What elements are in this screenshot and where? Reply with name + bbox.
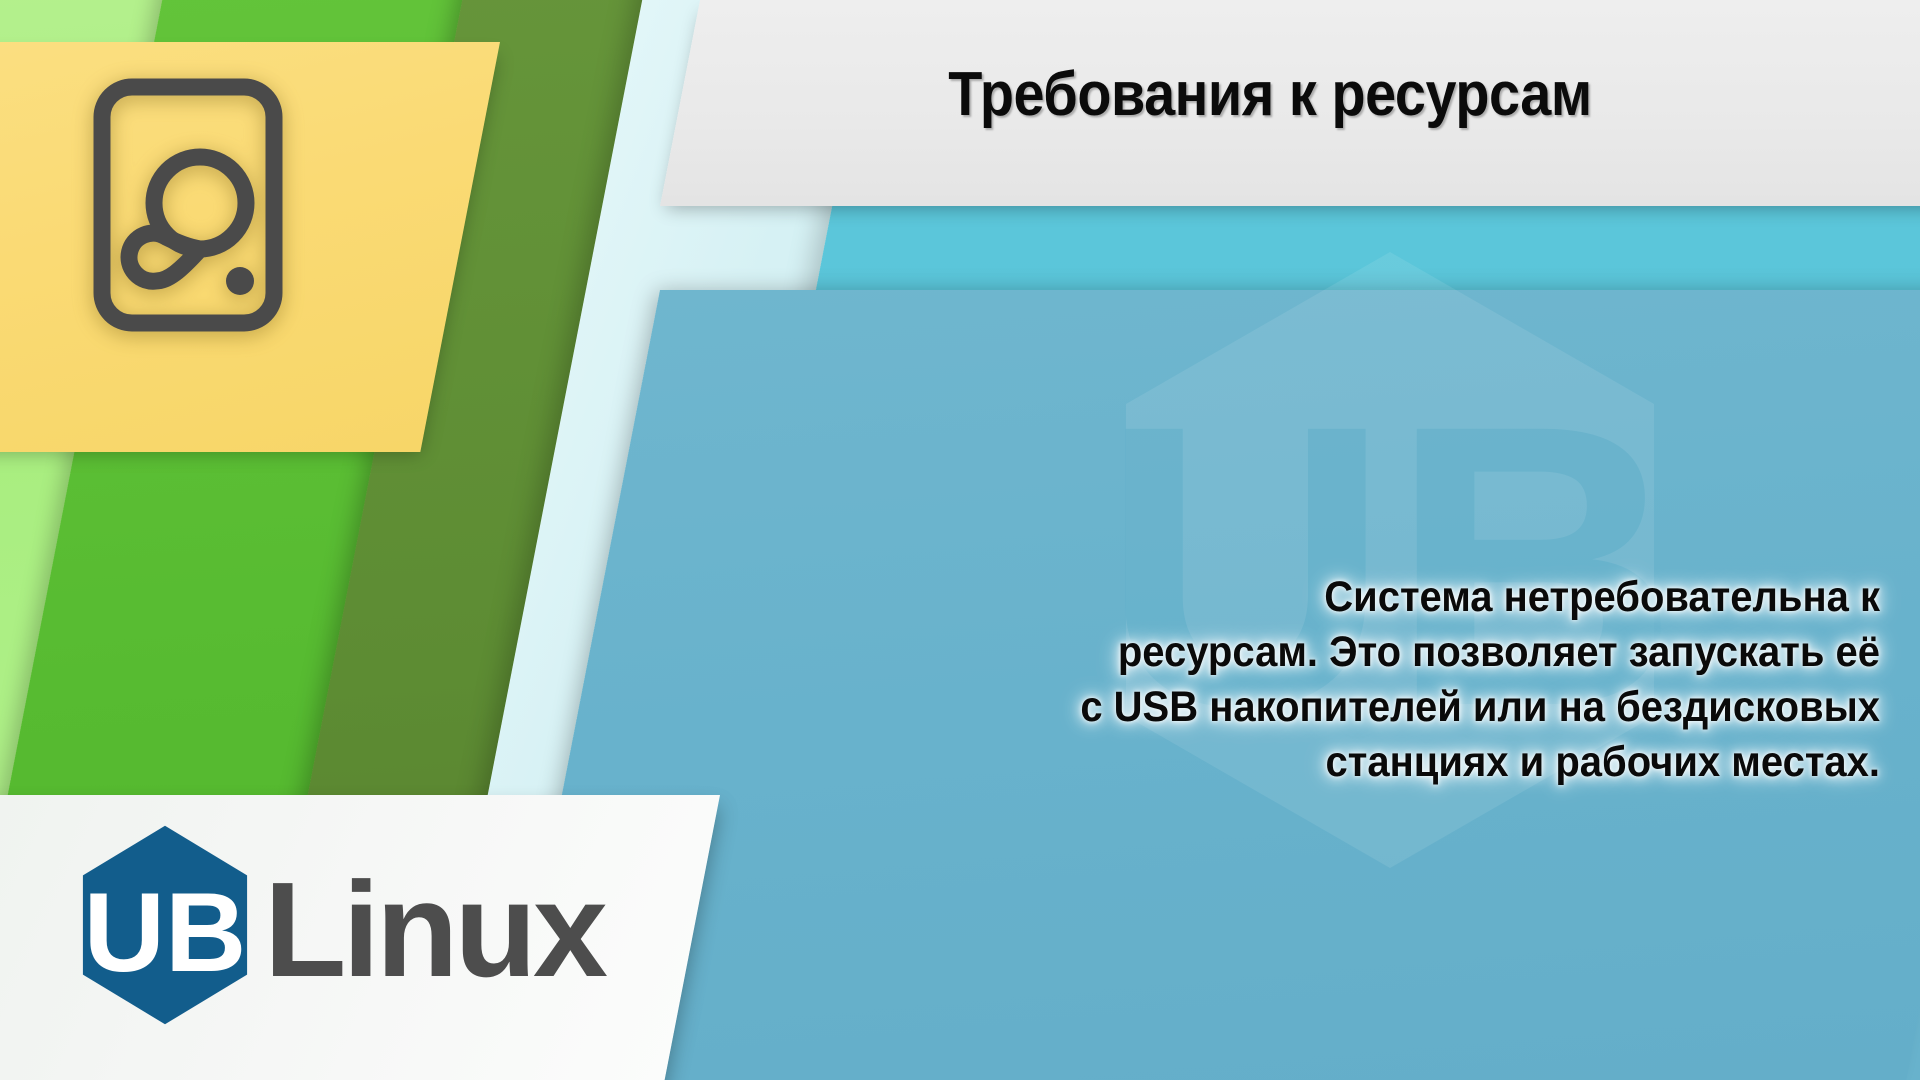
logo-mark-text: UB — [84, 869, 247, 995]
ub-hexagon-icon: UB — [60, 820, 270, 1030]
page-title: Требования к ресурсам — [721, 34, 1819, 154]
hard-drive-icon — [88, 75, 288, 335]
brand-logo: UB Linux — [60, 820, 604, 1030]
body-paragraph: Система нетребовательна к ресурсам. Это … — [931, 570, 1880, 790]
logo-wordmark: Linux — [264, 862, 604, 997]
presentation-slide: UB Требования к ресурсам Система нетребо… — [0, 0, 1920, 1080]
body-line: станциях и рабочих местах. — [931, 735, 1880, 790]
body-line: с USB накопителей или на бездисковых — [931, 680, 1880, 735]
body-line: ресурсам. Это позволяет запускать её — [931, 625, 1880, 680]
body-line: Система нетребовательна к — [931, 570, 1880, 625]
